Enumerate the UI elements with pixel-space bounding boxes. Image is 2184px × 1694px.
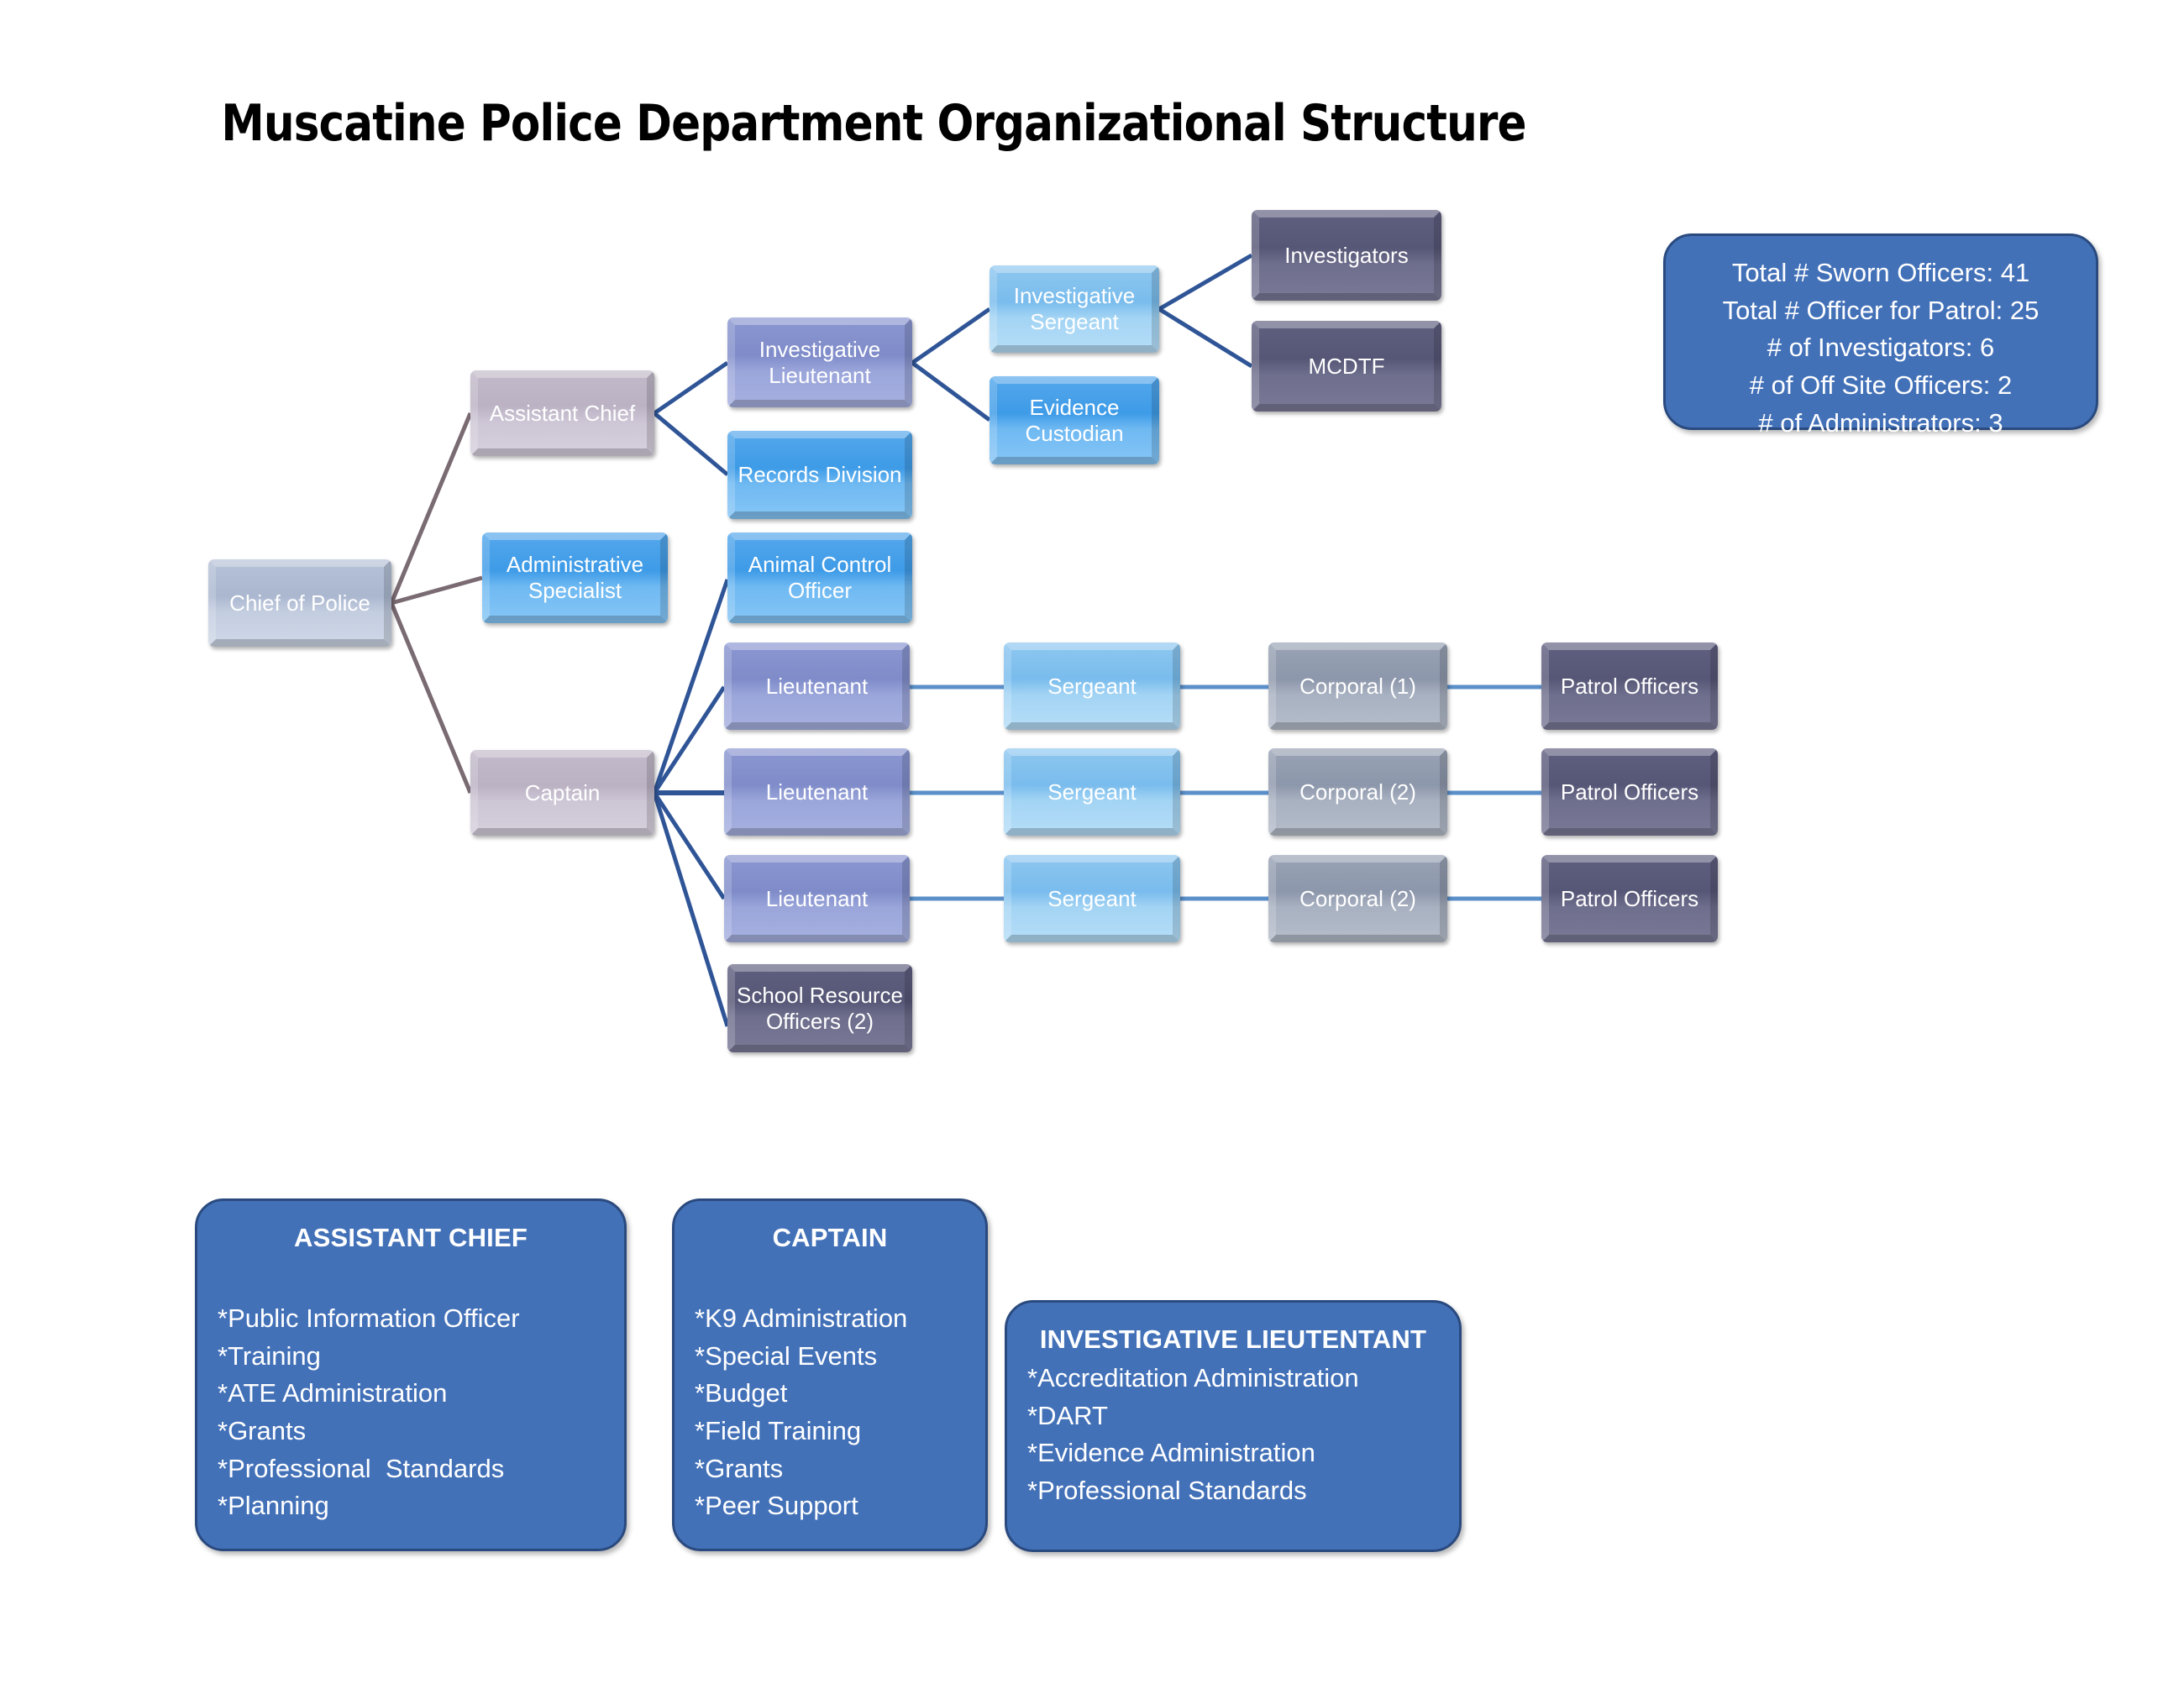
node-sergeant-row-1[interactable]: Sergeant bbox=[1004, 642, 1180, 730]
node-sergeant-row-3[interactable]: Sergeant bbox=[1004, 855, 1180, 942]
duty-item: *Evidence Administration bbox=[1027, 1434, 1439, 1472]
duty-list: *Public Information Officer *Training *A… bbox=[218, 1300, 604, 1525]
summary-line-administrators: # of Administrators: 3 bbox=[1681, 405, 2081, 443]
summary-line-sworn-officers: Total # Sworn Officers: 41 bbox=[1681, 254, 2081, 292]
node-captain[interactable]: Captain bbox=[470, 750, 654, 836]
duty-panel-title: CAPTAIN bbox=[695, 1223, 965, 1253]
node-chief-of-police[interactable]: Chief of Police bbox=[208, 559, 391, 647]
node-label: Patrol Officers bbox=[1561, 674, 1698, 700]
node-lieutenant-row-3[interactable]: Lieutenant bbox=[724, 855, 910, 942]
duty-panel-title: ASSISTANT CHIEF bbox=[218, 1223, 604, 1253]
node-label: Lieutenant bbox=[766, 779, 868, 805]
node-label: MCDTF bbox=[1309, 354, 1385, 380]
duty-panel-title: INVESTIGATIVE LIEUTENTANT bbox=[1027, 1324, 1439, 1355]
duty-item: *Grants bbox=[695, 1450, 965, 1488]
node-school-resource-officers[interactable]: School Resource Officers (2) bbox=[727, 964, 912, 1052]
duty-item: *K9 Administration bbox=[695, 1300, 965, 1338]
node-label: Sergeant bbox=[1047, 674, 1137, 700]
org-chart-canvas: Muscatine Police Department Organization… bbox=[0, 0, 2184, 1694]
node-label: Lieutenant bbox=[766, 674, 868, 700]
duty-item: *Peer Support bbox=[695, 1487, 965, 1525]
node-lieutenant-row-2[interactable]: Lieutenant bbox=[724, 748, 910, 836]
summary-line-investigators: # of Investigators: 6 bbox=[1681, 329, 2081, 367]
duty-panel-assistant-chief: ASSISTANT CHIEF *Public Information Offi… bbox=[195, 1198, 627, 1551]
duty-list: *Accreditation Administration *DART *Evi… bbox=[1027, 1360, 1439, 1510]
page-title: Muscatine Police Department Organization… bbox=[123, 94, 1625, 153]
duty-item: *Training bbox=[218, 1338, 604, 1376]
node-label: Corporal (2) bbox=[1299, 779, 1416, 805]
duty-item: *Professional Standards bbox=[1027, 1472, 1439, 1510]
node-corporal-row-2[interactable]: Corporal (2) bbox=[1268, 748, 1447, 836]
summary-line-off-site-officers: # of Off Site Officers: 2 bbox=[1681, 367, 2081, 405]
duty-panel-investigative-lieutenant: INVESTIGATIVE LIEUTENTANT *Accreditation… bbox=[1005, 1300, 1462, 1552]
node-assistant-chief[interactable]: Assistant Chief bbox=[470, 370, 654, 456]
node-patrol-officers-row-3[interactable]: Patrol Officers bbox=[1541, 855, 1718, 942]
node-label: Evidence Custodian bbox=[1025, 395, 1123, 446]
node-mcdtf[interactable]: MCDTF bbox=[1252, 321, 1441, 412]
node-label: Assistant Chief bbox=[490, 401, 635, 427]
node-lieutenant-row-1[interactable]: Lieutenant bbox=[724, 642, 910, 730]
node-animal-control-officer[interactable]: Animal Control Officer bbox=[727, 532, 912, 623]
node-label: School Resource Officers (2) bbox=[737, 983, 903, 1034]
node-sergeant-row-2[interactable]: Sergeant bbox=[1004, 748, 1180, 836]
node-label: Corporal (1) bbox=[1299, 674, 1416, 700]
node-corporal-row-1[interactable]: Corporal (1) bbox=[1268, 642, 1447, 730]
duty-item: *Grants bbox=[218, 1413, 604, 1450]
duty-item: *Accreditation Administration bbox=[1027, 1360, 1439, 1398]
node-label: Administrative Specialist bbox=[507, 552, 643, 603]
node-patrol-officers-row-1[interactable]: Patrol Officers bbox=[1541, 642, 1718, 730]
staffing-summary-panel: Total # Sworn Officers: 41 Total # Offic… bbox=[1663, 233, 2098, 430]
node-investigative-sergeant[interactable]: Investigative Sergeant bbox=[990, 265, 1159, 353]
node-label: Corporal (2) bbox=[1299, 886, 1416, 912]
node-label: Investigative Sergeant bbox=[1014, 283, 1136, 334]
node-corporal-row-3[interactable]: Corporal (2) bbox=[1268, 855, 1447, 942]
node-label: Patrol Officers bbox=[1561, 886, 1698, 912]
duty-item: *Professional Standards bbox=[218, 1450, 604, 1488]
duty-item: *Planning bbox=[218, 1487, 604, 1525]
node-label: Investigative Lieutenant bbox=[759, 337, 881, 388]
node-label: Patrol Officers bbox=[1561, 779, 1698, 805]
duty-item: *Public Information Officer bbox=[218, 1300, 604, 1338]
duty-item: *Budget bbox=[695, 1375, 965, 1413]
duty-item: *Field Training bbox=[695, 1413, 965, 1450]
node-investigators[interactable]: Investigators bbox=[1252, 210, 1441, 301]
summary-line-patrol-officers: Total # Officer for Patrol: 25 bbox=[1681, 292, 2081, 330]
node-label: Records Division bbox=[738, 462, 901, 488]
node-label: Sergeant bbox=[1047, 779, 1137, 805]
node-label: Sergeant bbox=[1047, 886, 1137, 912]
node-patrol-officers-row-2[interactable]: Patrol Officers bbox=[1541, 748, 1718, 836]
duty-panel-captain: CAPTAIN *K9 Administration *Special Even… bbox=[672, 1198, 988, 1551]
duty-item: *Special Events bbox=[695, 1338, 965, 1376]
node-administrative-specialist[interactable]: Administrative Specialist bbox=[482, 532, 668, 623]
node-label: Captain bbox=[525, 780, 601, 806]
node-records-division[interactable]: Records Division bbox=[727, 431, 912, 519]
duty-item: *ATE Administration bbox=[218, 1375, 604, 1413]
node-label: Investigators bbox=[1284, 243, 1408, 269]
node-investigative-lieutenant[interactable]: Investigative Lieutenant bbox=[727, 317, 912, 407]
node-label: Lieutenant bbox=[766, 886, 868, 912]
duty-list: *K9 Administration *Special Events *Budg… bbox=[695, 1300, 965, 1525]
node-label: Animal Control Officer bbox=[748, 552, 892, 603]
duty-item: *DART bbox=[1027, 1398, 1439, 1435]
node-evidence-custodian[interactable]: Evidence Custodian bbox=[990, 376, 1159, 464]
node-label: Chief of Police bbox=[229, 590, 370, 616]
